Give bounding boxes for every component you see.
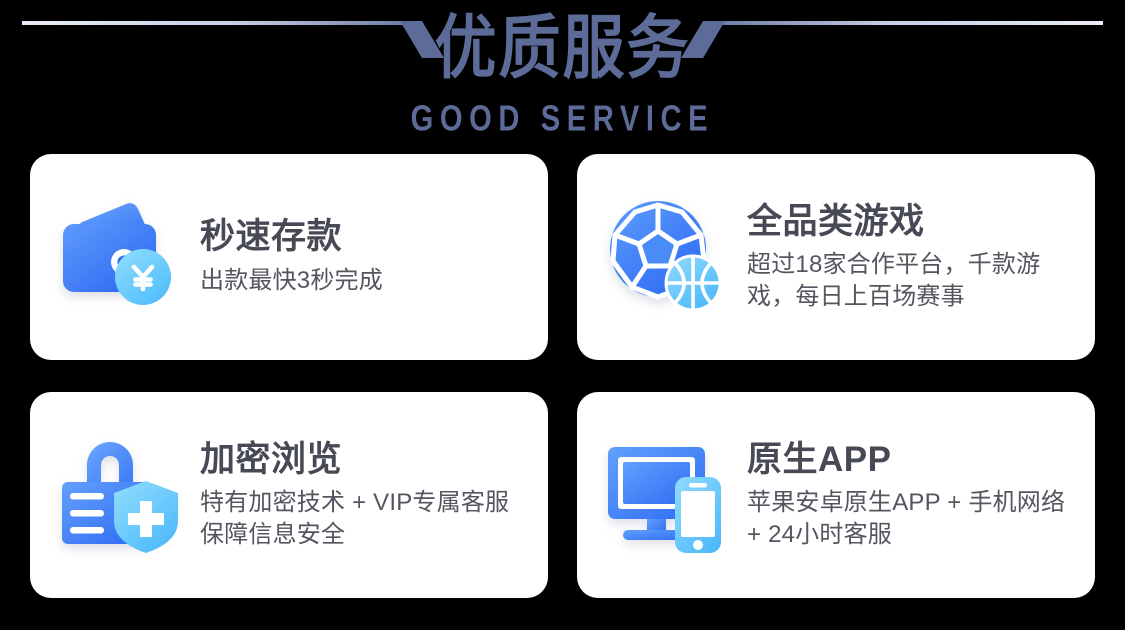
card-title: 秒速存款	[200, 217, 526, 256]
card-title: 全品类游戏	[747, 202, 1073, 241]
feature-card-encrypted-browsing[interactable]: 加密浏览 特有加密技术 + VIP专属客服保障信息安全	[30, 392, 548, 598]
card-text-block: 全品类游戏 超过18家合作平台，千款游戏，每日上百场赛事	[733, 202, 1077, 313]
page-header: 优质服务 GOOD SERVICE	[0, 0, 1125, 150]
card-text-block: 原生APP 苹果安卓原生APP + 手机网络 + 24小时客服	[733, 440, 1077, 551]
lock-shield-icon	[54, 429, 186, 561]
monitor-phone-icon	[601, 429, 733, 561]
card-subtitle: 出款最快3秒完成	[200, 265, 526, 297]
wallet-yen-icon	[54, 191, 186, 323]
header-left-rule-icon	[22, 0, 452, 98]
card-title: 原生APP	[747, 440, 1073, 479]
card-text-block: 秒速存款 出款最快3秒完成	[186, 217, 530, 296]
header-title-row: 优质服务	[0, 0, 1125, 98]
card-title: 加密浏览	[200, 440, 526, 479]
feature-card-native-app[interactable]: 原生APP 苹果安卓原生APP + 手机网络 + 24小时客服	[577, 392, 1095, 598]
page-subtitle: GOOD SERVICE	[411, 100, 715, 137]
card-subtitle: 苹果安卓原生APP + 手机网络 + 24小时客服	[747, 487, 1073, 551]
card-subtitle: 超过18家合作平台，千款游戏，每日上百场赛事	[747, 249, 1073, 313]
page-title: 优质服务	[412, 14, 712, 83]
soccer-basketball-icon	[601, 191, 733, 323]
card-subtitle: 特有加密技术 + VIP专属客服保障信息安全	[200, 487, 526, 551]
feature-card-all-category-games[interactable]: 全品类游戏 超过18家合作平台，千款游戏，每日上百场赛事	[577, 154, 1095, 360]
feature-card-instant-deposit[interactable]: 秒速存款 出款最快3秒完成	[30, 154, 548, 360]
feature-card-grid: 秒速存款 出款最快3秒完成	[30, 154, 1095, 598]
promo-page: 优质服务 GOOD SERVICE	[0, 0, 1125, 630]
header-right-rule-icon	[673, 0, 1103, 98]
card-text-block: 加密浏览 特有加密技术 + VIP专属客服保障信息安全	[186, 440, 530, 551]
